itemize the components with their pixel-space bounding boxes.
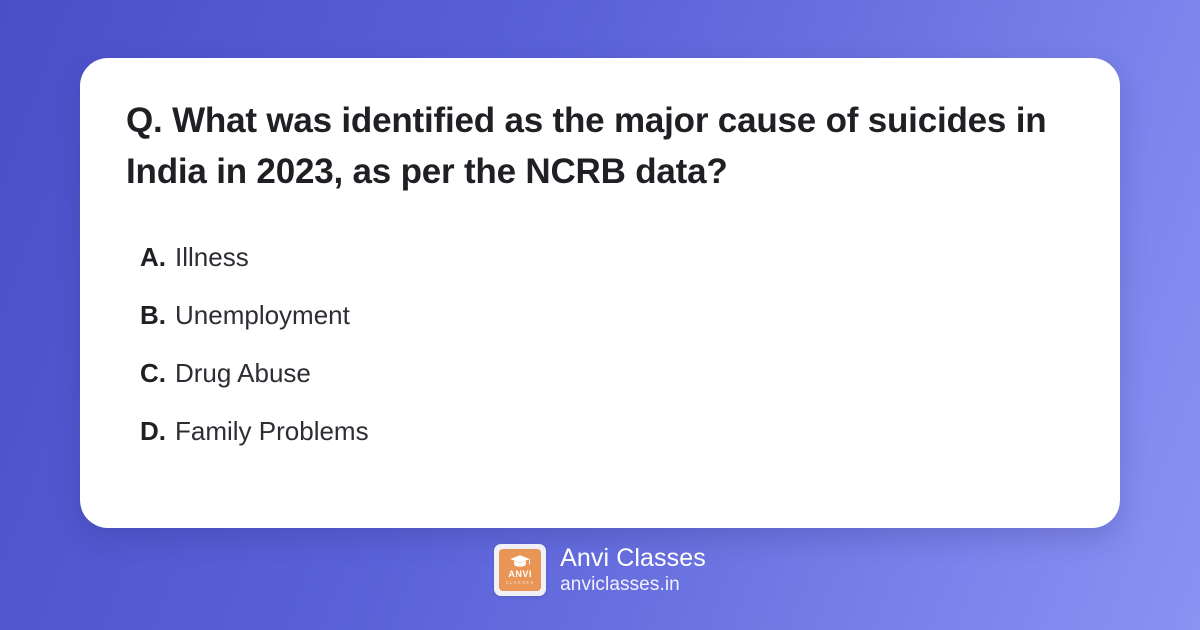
logo-name-text: ANVI: [508, 570, 532, 579]
brand-text-block: Anvi Classes anviclasses.in: [560, 544, 706, 595]
brand-name: Anvi Classes: [560, 544, 706, 572]
options-list: A. Illness B. Unemployment C. Drug Abuse…: [126, 242, 1074, 448]
logo-tile: ANVI CLASSES: [499, 549, 541, 591]
option-a[interactable]: A. Illness: [140, 242, 1074, 273]
question-card: Q. What was identified as the major caus…: [80, 58, 1120, 528]
option-a-text: Illness: [175, 242, 249, 273]
option-c-letter: C.: [140, 358, 166, 389]
option-c-text: Drug Abuse: [175, 358, 311, 389]
question-text: Q. What was identified as the major caus…: [126, 96, 1074, 198]
graduation-cap-icon: [509, 554, 531, 568]
option-b-letter: B.: [140, 300, 166, 331]
logo-subtitle-text: CLASSES: [506, 581, 535, 585]
option-b-text: Unemployment: [175, 300, 350, 331]
quiz-poster: Q. What was identified as the major caus…: [0, 0, 1200, 630]
option-d[interactable]: D. Family Problems: [140, 416, 1074, 447]
option-d-text: Family Problems: [175, 416, 369, 447]
brand-url[interactable]: anviclasses.in: [560, 574, 706, 595]
option-a-letter: A.: [140, 242, 166, 273]
option-d-letter: D.: [140, 416, 166, 447]
brand-footer: ANVI CLASSES Anvi Classes anviclasses.in: [0, 544, 1200, 596]
option-b[interactable]: B. Unemployment: [140, 300, 1074, 331]
anvi-classes-logo: ANVI CLASSES: [494, 544, 546, 596]
option-c[interactable]: C. Drug Abuse: [140, 358, 1074, 389]
